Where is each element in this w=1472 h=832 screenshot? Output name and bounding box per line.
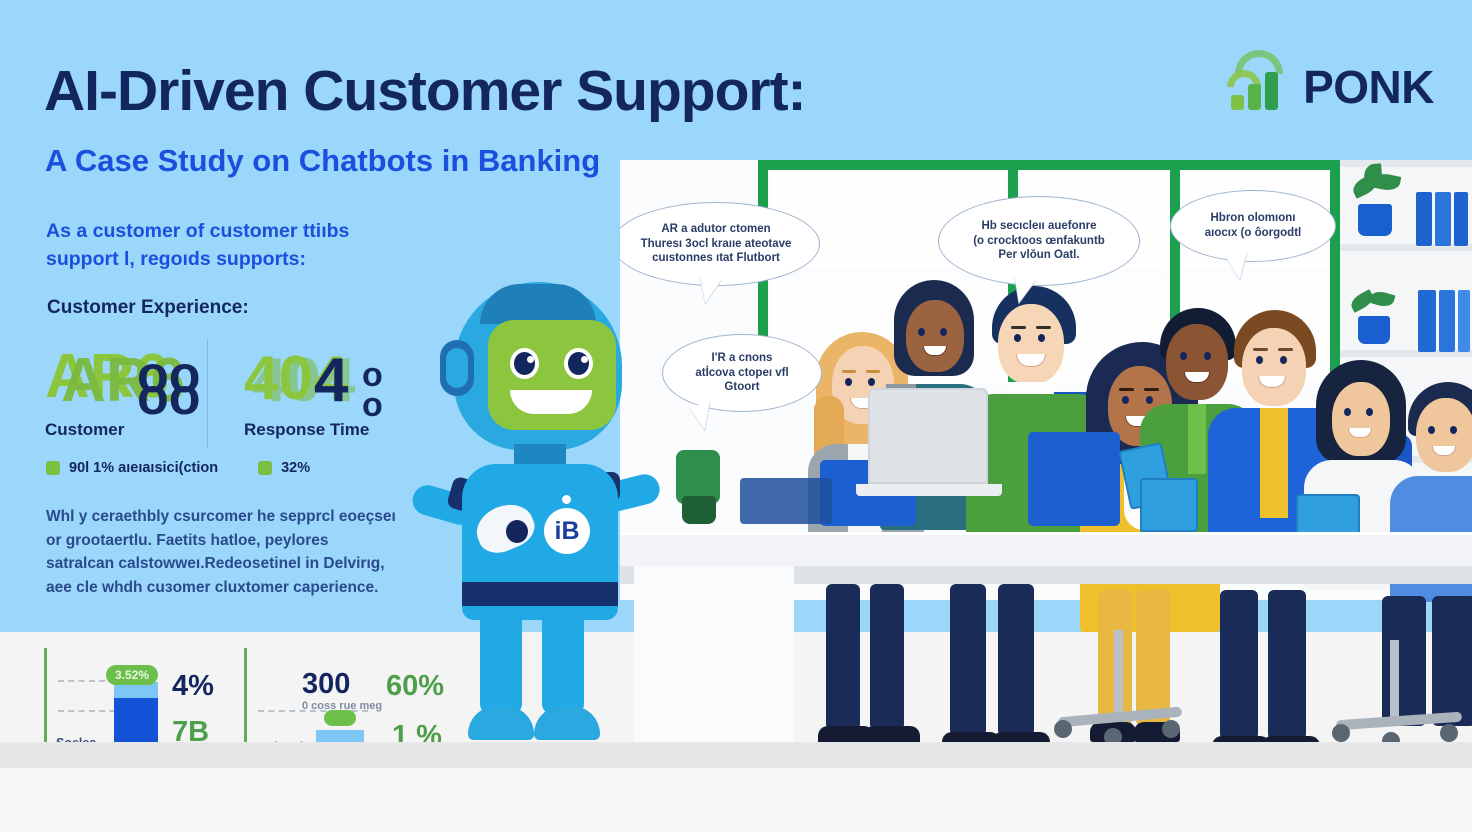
chart-2-primary-value: 300 — [302, 668, 350, 701]
legend-swatch-2 — [258, 461, 272, 475]
person-6-brow-right — [1278, 348, 1293, 351]
page-title: AI-Driven Customer Support: — [44, 62, 806, 121]
window-frame-top — [758, 160, 1340, 170]
signal-bar-1 — [1231, 95, 1244, 110]
speech-bubble-4: Hbron olomıonı aıocıx (o ôorgodtl — [1170, 190, 1336, 262]
floor-bottom-strip — [0, 768, 1472, 832]
second-monitor[interactable] — [1028, 432, 1120, 526]
robot-ear-inner — [446, 348, 468, 388]
person-6-leg-right — [1268, 590, 1306, 740]
person-3-brow-right — [1036, 326, 1051, 329]
desk-device-screen[interactable] — [740, 478, 832, 524]
speech-bubble-4-line-2: aıocıx (o ôorgodtl — [1205, 227, 1301, 239]
chart-1-value-pill: 3.52% — [106, 665, 158, 685]
robot-badge-dot — [562, 495, 571, 504]
signal-bars-icon — [1231, 64, 1293, 110]
speech-bubble-1-line-1: AR a adutor ctomen — [661, 223, 770, 235]
robot-eye-gleam-right — [581, 356, 588, 363]
stats-legend: 90l 1% aıeıaısici(ction 32% — [46, 460, 310, 476]
person-4-eye-left — [1122, 396, 1129, 404]
person-1-leg-left — [826, 584, 860, 730]
person-5-tie — [1188, 404, 1206, 474]
person-3-head — [998, 304, 1064, 384]
office-illustration-scene: AR a adutor ctomen Thuresı 3ocl kraııe a… — [620, 160, 1472, 768]
signal-bar-2 — [1248, 84, 1261, 110]
body-paragraph: Whl y ceraethbly csurcomer he sepprcl eo… — [46, 505, 398, 599]
person-3-eye-right — [1038, 334, 1045, 342]
robot-eye-gleam-left — [527, 356, 534, 363]
shelf-plant-pot-2 — [1358, 316, 1390, 344]
page-subtitle: A Case Study on Chatbots in Banking — [45, 143, 600, 179]
speech-bubble-3-line-2: (o crocktoos œnfakuntb — [973, 235, 1105, 247]
person-7-head — [1332, 382, 1390, 456]
shelf-plant2-leaf-2 — [1369, 289, 1396, 309]
person-4-leg-right — [1136, 590, 1170, 726]
legend-label-2: 32% — [281, 460, 310, 476]
person-1-brow-left — [842, 370, 856, 373]
person-1-eye-left — [845, 378, 852, 386]
customer-satisfaction-value: AR6 AR6 oo oo — [45, 336, 217, 414]
book-4 — [1418, 290, 1436, 352]
response-time-value: 404 404 4 o o — [244, 336, 389, 414]
person-3-leg-right — [998, 584, 1034, 736]
section-heading-customer-experience: Customer Experience: — [47, 297, 249, 319]
person-7-eye-left — [1344, 408, 1351, 416]
person-2-eye-left — [918, 328, 925, 336]
person-2-head — [906, 300, 964, 372]
person-8-head — [1416, 398, 1472, 472]
person-6-brow-left — [1253, 348, 1268, 351]
laptop-screen[interactable] — [868, 388, 988, 484]
speech-bubble-3-line-1: Hb secıcleıı auefonre — [981, 220, 1096, 232]
person-3-leg-left — [950, 584, 986, 736]
speech-bubble-1-line-3: cuıstonnes ıtat Flutbort — [652, 252, 780, 264]
robot-foot-left — [468, 706, 534, 740]
robot-hand-thumb — [506, 520, 528, 543]
stats-row: AR6 AR6 oo oo Customer 404 404 4 o o Res… — [45, 336, 390, 440]
speech-bubble-2-line-1: I'R a cnons — [712, 352, 773, 364]
speech-bubble-1-line-2: Thuresı 3ocl kraııe ateotave — [641, 238, 792, 250]
book-5 — [1439, 290, 1455, 352]
signal-bar-3 — [1265, 72, 1278, 110]
stat-2-navy-bottom: o — [362, 366, 383, 444]
response-time-stat: 404 404 4 o o Response Time — [217, 336, 389, 440]
book-3 — [1454, 192, 1468, 246]
brand-logo[interactable]: PONK — [1231, 64, 1434, 110]
shelf-board-2 — [1340, 244, 1472, 251]
person-6-leg-left — [1220, 590, 1258, 740]
speech-bubble-2: I'R a cnons atİcova ctopeı vfl Gtoort — [662, 334, 822, 412]
speech-bubble-1: AR a adutor ctomen Thuresı 3ocl kraııe a… — [620, 202, 820, 286]
person-8-leg-right — [1432, 596, 1472, 726]
person-8-eye-right — [1450, 426, 1457, 434]
office-desk-top — [620, 532, 1472, 566]
person-6-eye-left — [1256, 356, 1263, 364]
person-7-eye-right — [1366, 408, 1373, 416]
laptop-base[interactable] — [856, 484, 1002, 496]
brand-name: PONK — [1303, 66, 1434, 110]
chair-caster-6 — [1440, 724, 1458, 742]
infographic-poster: AR a adutor ctomen Thuresı 3ocl kraııe a… — [0, 0, 1472, 832]
tablet-on-desk[interactable] — [1140, 478, 1198, 532]
robot-leg-left — [480, 606, 522, 714]
book-6 — [1458, 290, 1470, 352]
speech-bubble-2-line-2: atİcova ctopeı vfl — [695, 367, 788, 379]
chair-stem-1 — [1114, 630, 1123, 718]
person-3-eye-left — [1014, 334, 1021, 342]
robot-leg-right — [542, 606, 584, 714]
speech-bubble-1-tail — [696, 277, 721, 306]
person-6-eye-right — [1280, 356, 1287, 364]
speech-bubble-4-line-1: Hbron olomıonı — [1211, 212, 1296, 224]
chair-caster-1 — [1054, 720, 1072, 738]
chair-caster-3 — [1162, 720, 1180, 738]
chart-2-right-value: 60% — [386, 670, 444, 703]
person-1-eye-right — [868, 378, 875, 386]
robot-head-crest — [480, 284, 596, 324]
person-1-leg-right — [870, 584, 904, 730]
chart-1-primary-value: 4% — [172, 670, 214, 703]
floor-shadow-strip — [0, 742, 1472, 768]
intro-paragraph: As a customer of customer ttiıbs support… — [46, 218, 406, 273]
legend-swatch-1 — [46, 461, 60, 475]
book-2 — [1435, 192, 1451, 246]
person-8-leg-left — [1382, 596, 1426, 726]
shelf-plant-pot — [1358, 204, 1392, 236]
stat-2-navy-overlay: 4 — [314, 342, 348, 420]
person-5-eye-left — [1180, 352, 1187, 360]
person-4-brow-left — [1119, 388, 1134, 391]
chart-2-primary-caption: 0 coss rue meg — [302, 700, 382, 712]
book-1 — [1416, 192, 1432, 246]
speech-bubble-2-line-3: Gtoort — [724, 381, 759, 393]
chart-2-value-pill — [324, 710, 356, 726]
legend-label-1: 90l 1% aıeıaısici(ction — [69, 460, 218, 476]
customer-satisfaction-stat: AR6 AR6 oo oo Customer — [45, 336, 217, 440]
chair-stem-2 — [1390, 640, 1399, 724]
shelf-board-1 — [1340, 160, 1472, 167]
person-8-eye-left — [1428, 426, 1435, 434]
person-2-eye-right — [940, 328, 947, 336]
speech-bubble-3-line-3: Per vlŏun Oatl. — [998, 249, 1079, 261]
person-1-brow-right — [866, 370, 880, 373]
robot-smile — [510, 390, 592, 414]
person-3-brow-left — [1011, 326, 1026, 329]
chair-caster-4 — [1332, 724, 1350, 742]
stat-1-navy-bottom: oo — [137, 358, 201, 436]
speech-bubble-3-tail — [1010, 276, 1036, 305]
robot-chest-badge: iB — [544, 508, 590, 554]
robot-belt — [462, 582, 618, 606]
robot-foot-right — [534, 706, 600, 740]
person-6-head — [1242, 328, 1306, 406]
person-6-shirt — [1260, 408, 1288, 518]
desk-plant-pot — [682, 496, 716, 524]
speech-bubble-3: Hb secıcleıı auefonre (o crocktoos œnfak… — [938, 196, 1140, 286]
